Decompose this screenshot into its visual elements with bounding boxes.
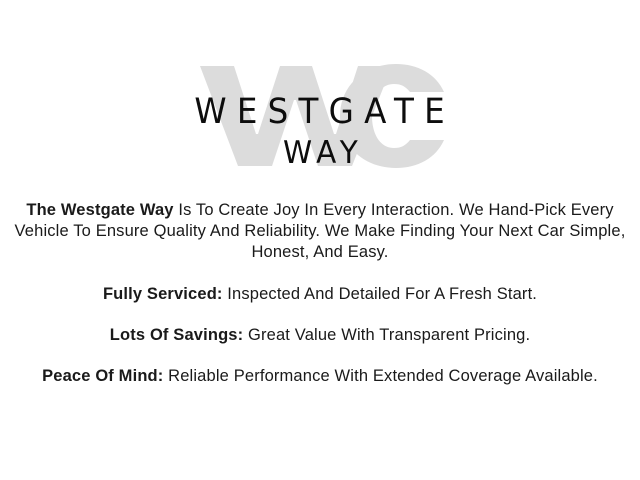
paragraph-text: Inspected And Detailed For A Fresh Start… [223,285,537,303]
paragraph-text: Great Value With Transparent Pricing. [243,326,530,344]
paragraph-lead: Fully Serviced: [103,285,223,303]
paragraph-text: Reliable Performance With Extended Cover… [163,367,597,385]
paragraph-peace-of-mind: Peace Of Mind: Reliable Performance With… [8,366,632,387]
paragraph-lots-of-savings: Lots Of Savings: Great Value With Transp… [8,325,632,346]
paragraph-lead: Peace Of Mind: [42,367,163,385]
promo-body-copy: The Westgate Way Is To Create Joy In Eve… [8,200,632,387]
brand-wordmark: WESTGATE WAY [0,56,640,176]
paragraph-lead: Lots Of Savings: [110,326,244,344]
paragraph-westgate-way: The Westgate Way Is To Create Joy In Eve… [8,200,632,263]
promo-panel: WESTGATE WAY The Westgate Way Is To Crea… [0,0,640,480]
brand-wordmark-secondary: WAY [277,136,363,170]
brand-logo: WESTGATE WAY [0,56,640,176]
paragraph-lead: The Westgate Way [26,201,173,219]
paragraph-fully-serviced: Fully Serviced: Inspected And Detailed F… [8,284,632,305]
brand-wordmark-primary: WESTGATE [185,92,456,132]
